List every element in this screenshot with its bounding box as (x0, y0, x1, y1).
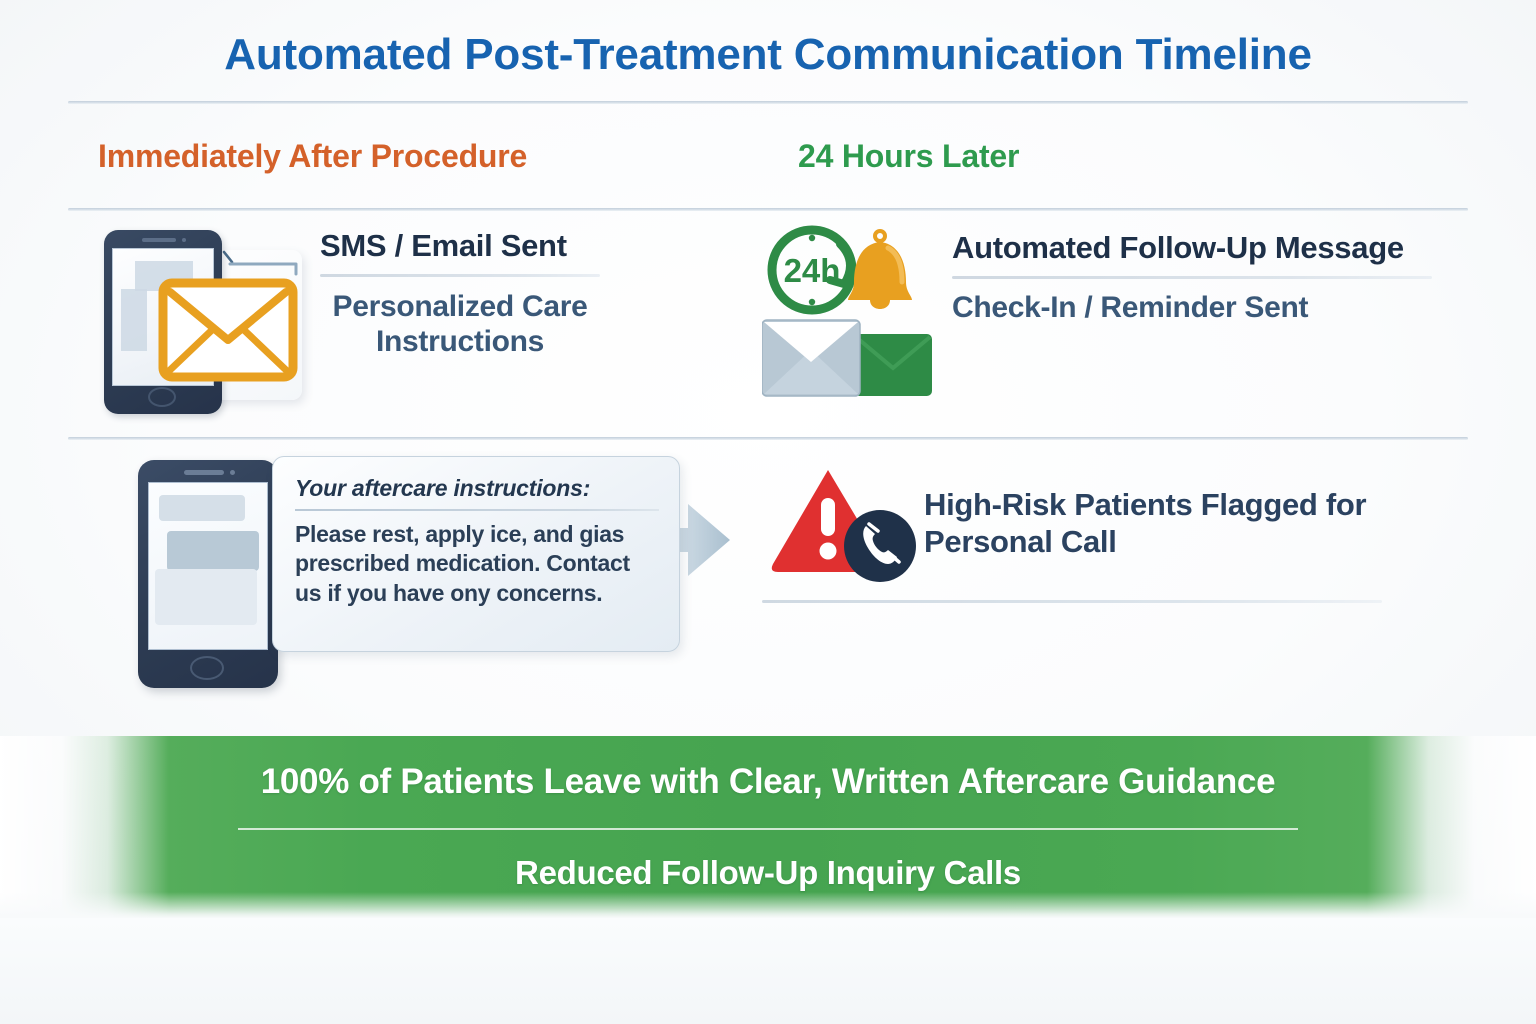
page-title: Automated Post-Treatment Communication T… (0, 0, 1536, 80)
aftercare-bubble-title: Your aftercare instructions: (295, 475, 659, 502)
followup-illustration: 24h (762, 222, 942, 412)
envelope-icon (158, 278, 298, 382)
phone-handset-icon (844, 510, 916, 582)
column-header-24hours: 24 Hours Later (798, 138, 1019, 175)
divider-banner (238, 828, 1298, 830)
phone-speaker (142, 238, 176, 242)
phone-camera-dot (182, 238, 186, 242)
divider-under-high-risk (762, 600, 1382, 603)
personalized-care-subheading: Personalized Care Instructions (320, 289, 600, 360)
footer-spacer (0, 918, 1536, 1024)
envelope-grey-icon (762, 320, 860, 396)
aftercare-message-bubble: Your aftercare instructions: Please rest… (272, 456, 680, 652)
divider-sms-email (320, 274, 600, 277)
sms-email-heading: SMS / Email Sent (320, 228, 600, 264)
high-risk-illustration (770, 464, 930, 582)
divider-under-headers (68, 208, 1468, 211)
divider-between-rows (68, 437, 1468, 440)
timeline-row-1: SMS / Email Sent Personalized Care Instr… (0, 222, 1536, 430)
phone-home-button (190, 656, 224, 680)
phone-home-button (148, 387, 176, 407)
checkin-reminder-subheading: Check-In / Reminder Sent (952, 291, 1432, 325)
timeline-row-2: Your aftercare instructions: Please rest… (0, 452, 1536, 702)
high-risk-text-block: High-Risk Patients Flagged for Personal … (924, 486, 1384, 560)
phone-screen (148, 482, 268, 650)
sms-email-text-block: SMS / Email Sent Personalized Care Instr… (320, 228, 600, 360)
sms-email-illustration (104, 230, 304, 420)
column-headers: Immediately After Procedure 24 Hours Lat… (0, 138, 1536, 196)
smartphone-message-icon (138, 460, 278, 698)
high-risk-heading: High-Risk Patients Flagged for Personal … (924, 486, 1384, 560)
followup-heading: Automated Follow-Up Message (952, 230, 1432, 266)
divider-followup (952, 276, 1432, 279)
banner-benefit-line: Reduced Follow-Up Inquiry Calls (515, 854, 1021, 892)
column-header-immediately: Immediately After Procedure (98, 138, 527, 175)
envelope-green-icon (854, 334, 932, 396)
divider-bubble (295, 509, 659, 511)
24h-clock-icon: 24h (772, 230, 856, 310)
phone-camera-dot (230, 470, 235, 475)
bell-icon (848, 231, 912, 309)
divider-under-title (68, 101, 1468, 104)
phone-speaker (184, 470, 224, 475)
send-swoosh-icon (222, 248, 302, 280)
svg-text:24h: 24h (784, 252, 841, 289)
banner-stat-line: 100% of Patients Leave with Clear, Writt… (261, 762, 1276, 802)
followup-text-block: Automated Follow-Up Message Check-In / R… (952, 230, 1432, 325)
aftercare-bubble-body: Please rest, apply ice, and gias prescri… (295, 520, 659, 608)
outcome-banner: 100% of Patients Leave with Clear, Writt… (0, 736, 1536, 918)
